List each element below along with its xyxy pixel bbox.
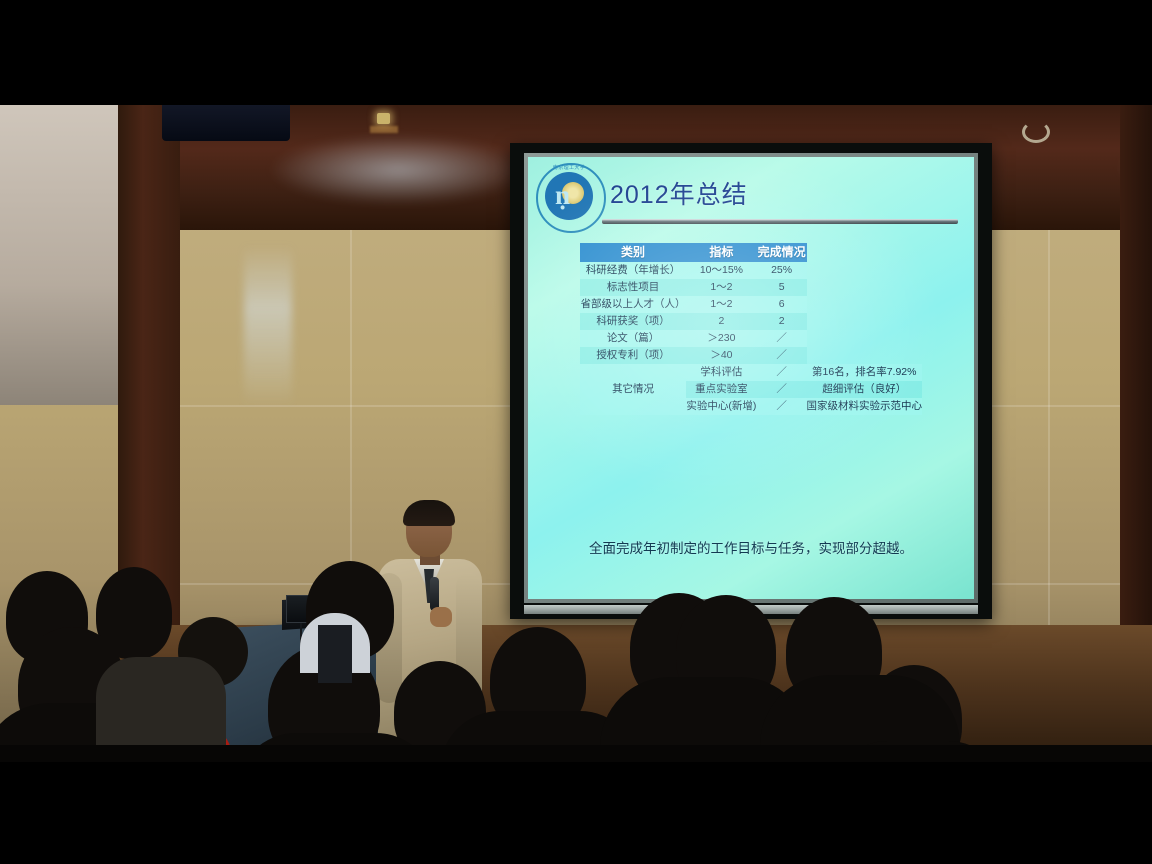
trim-gloss (268, 135, 528, 205)
ceiling-fixture-icon (1022, 121, 1050, 143)
header-index: 指标 (686, 243, 757, 262)
university-logo-icon: ṇ 南京理工大学 (536, 163, 602, 229)
foreground-shadow (0, 745, 1152, 762)
table-row: 科研经费（年增长） 10～15% 25% (580, 262, 922, 279)
cell-index: 1～2 (686, 296, 757, 313)
slide-title: 2012年总结 (610, 175, 748, 211)
cell-category: 实验中心(新增) (686, 398, 757, 415)
wood-trim-right (1120, 105, 1152, 625)
white-plaster-wall (0, 105, 118, 405)
cell-result: ／ (757, 347, 807, 364)
slide-title-rule (602, 219, 958, 224)
letterbox-top (0, 0, 1152, 105)
cell-index: ＞40 (686, 347, 757, 364)
cell-result: ／ (757, 330, 807, 347)
cell-result: 5 (757, 279, 807, 296)
speaker-led-icon (377, 113, 390, 124)
cell-index: ＞230 (686, 330, 757, 347)
presenter-hair (403, 500, 455, 526)
cell-index: 10～15% (686, 262, 757, 279)
table-row: 授权专利（项） ＞40 ／ (580, 347, 922, 364)
microphone (430, 577, 439, 611)
cell-result: 2 (757, 313, 807, 330)
cell-index: 2 (686, 313, 757, 330)
projected-slide: ṇ 南京理工大学 2012年总结 类别 指标 完成情况 (528, 157, 974, 599)
cell-category: 授权专利（项） (580, 347, 686, 364)
conference-room-photo: ṇ 南京理工大学 2012年总结 类别 指标 完成情况 (0, 105, 1152, 762)
cell-category: 科研获奖（项） (580, 313, 686, 330)
summary-table: 类别 指标 完成情况 科研经费（年增长） 10～15% 25% 标志性项目 (580, 243, 922, 415)
table-row: 省部级以上人才（人） 1～2 6 (580, 296, 922, 313)
cell-category: 标志性项目 (580, 279, 686, 296)
table-header-row: 类别 指标 完成情况 (580, 243, 922, 262)
trim-gloss (244, 245, 292, 425)
table-row: 其它情况 学科评估 ／ 第16名，排名率7.92% (580, 364, 922, 381)
speaker-label (370, 126, 398, 133)
cell-index: ／ (757, 398, 807, 415)
logo-text-top: 南京理工大学 (536, 164, 602, 171)
cell-index: ／ (757, 381, 807, 398)
table-row: 论文（篇） ＞230 ／ (580, 330, 922, 347)
table-row: 科研获奖（项） 2 2 (580, 313, 922, 330)
logo-letter: ṇ (555, 180, 570, 211)
cell-result: 25% (757, 262, 807, 279)
cell-result: 国家级材料实验示范中心 (807, 398, 923, 415)
cell-result: 超细评估（良好） (807, 381, 923, 398)
wall-seam (1048, 230, 1050, 625)
wood-trim-left (118, 105, 180, 625)
letterbox-bottom (0, 762, 1152, 864)
cell-index: ／ (757, 364, 807, 381)
cell-category: 论文（篇） (580, 330, 686, 347)
header-result: 完成情况 (757, 243, 807, 262)
cell-category: 科研经费（年增长） (580, 262, 686, 279)
screenshot-stage: ṇ 南京理工大学 2012年总结 类别 指标 完成情况 (0, 0, 1152, 864)
projection-screen-frame: ṇ 南京理工大学 2012年总结 类别 指标 完成情况 (510, 143, 992, 619)
cell-category: 学科评估 (686, 364, 757, 381)
slide-footer-text: 全面完成年初制定的工作目标与任务，实现部分超越。 (528, 537, 974, 557)
cell-group-label: 其它情况 (580, 364, 686, 415)
header-category: 类别 (580, 243, 686, 262)
cell-category: 重点实验室 (686, 381, 757, 398)
cell-index: 1～2 (686, 279, 757, 296)
table-row: 标志性项目 1～2 5 (580, 279, 922, 296)
ceiling-speaker (162, 105, 290, 141)
cell-category: 省部级以上人才（人） (580, 296, 686, 313)
cell-result: 第16名，排名率7.92% (807, 364, 923, 381)
audience-vest (318, 625, 352, 683)
presenter-hand (430, 607, 452, 627)
cell-result: 6 (757, 296, 807, 313)
